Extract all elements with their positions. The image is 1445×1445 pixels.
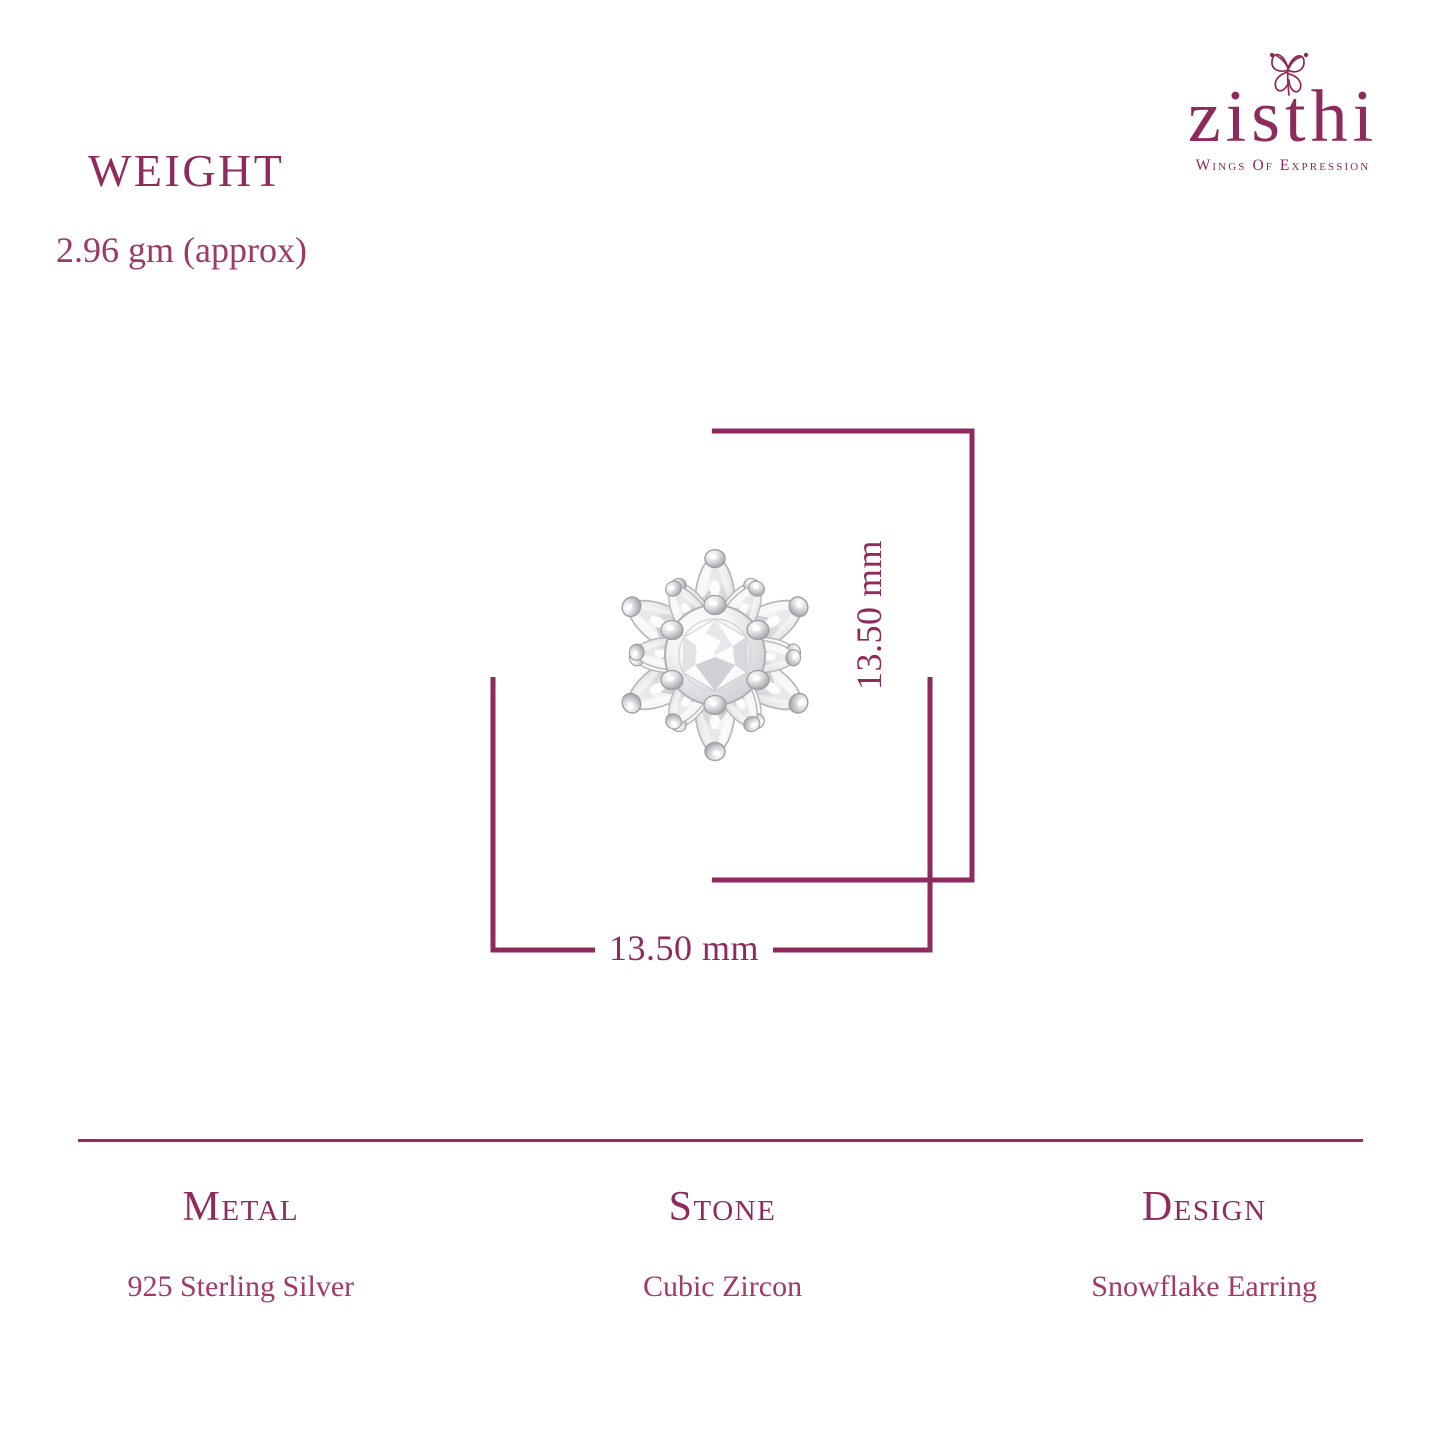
weight-title: WEIGHT bbox=[88, 148, 307, 194]
spec-column-stone: Stone Cubic Zircon bbox=[482, 1186, 964, 1302]
product-spec-card: zisthi Wings Of Expression WEIGHT 2.96 g… bbox=[0, 0, 1445, 1445]
brand-tagline: Wings Of Expression bbox=[1163, 158, 1403, 174]
spec-column-metal: Metal 925 Sterling Silver bbox=[0, 1186, 482, 1302]
spec-heading-metal: Metal bbox=[0, 1186, 482, 1228]
section-divider bbox=[78, 1139, 1363, 1142]
height-bracket bbox=[712, 431, 972, 880]
spec-column-design: Design Snowflake Earring bbox=[963, 1186, 1445, 1302]
spec-value-design: Snowflake Earring bbox=[963, 1272, 1445, 1302]
width-dimension-label: 13.50 mm bbox=[595, 930, 773, 966]
width-bracket bbox=[493, 677, 930, 950]
brand-logo: zisthi Wings Of Expression bbox=[1163, 44, 1403, 174]
butterfly-icon bbox=[1261, 46, 1317, 102]
weight-block: WEIGHT 2.96 gm (approx) bbox=[88, 148, 307, 268]
spec-heading-design: Design bbox=[963, 1186, 1445, 1228]
spec-row: Metal 925 Sterling Silver Stone Cubic Zi… bbox=[0, 1186, 1445, 1302]
height-dimension-label: 13.50 mm bbox=[837, 540, 901, 690]
spec-value-metal: 925 Sterling Silver bbox=[0, 1272, 482, 1302]
weight-value: 2.96 gm (approx) bbox=[56, 232, 307, 268]
spec-heading-stone: Stone bbox=[482, 1186, 964, 1228]
spec-value-stone: Cubic Zircon bbox=[482, 1272, 964, 1302]
snowflake-earring-image bbox=[465, 420, 965, 890]
